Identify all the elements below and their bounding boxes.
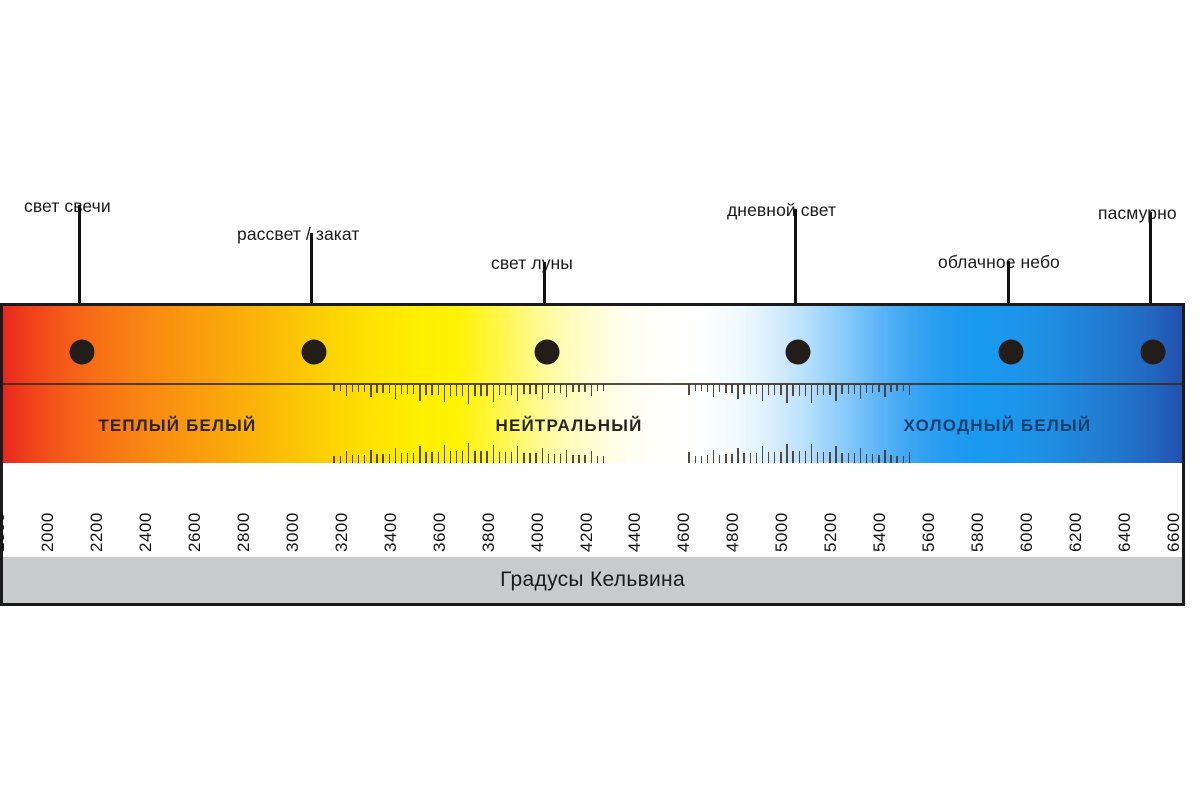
ruler-tick — [909, 452, 910, 463]
zone-caption-3: ХОЛОДНЫЙ БЕЛЫЙ — [904, 416, 1092, 436]
ruler-tick — [860, 384, 861, 399]
ruler-tick — [584, 384, 585, 392]
ruler-tick — [737, 448, 738, 463]
ruler-tick — [474, 384, 475, 396]
kelvin-tick-label: 2800 — [234, 512, 254, 552]
ruler-tick — [737, 384, 738, 399]
ruler-tick — [841, 453, 842, 463]
ruler-tick — [866, 454, 867, 463]
ruler-tick — [535, 453, 536, 463]
ruler-tick — [468, 384, 469, 404]
ruler-tick — [389, 384, 390, 393]
ruler-tick — [358, 455, 359, 463]
ruler-tick — [584, 455, 585, 463]
ruler-tick — [890, 384, 891, 392]
ruler-tick — [701, 384, 702, 391]
kelvin-tick-label: 6200 — [1066, 512, 1086, 552]
ruler-tick — [340, 456, 341, 463]
ruler-tick — [841, 384, 842, 394]
ruler-tick — [511, 384, 512, 395]
ruler-tick — [480, 384, 481, 396]
ruler-tick — [572, 455, 573, 463]
ruler-tick — [591, 384, 592, 396]
marker-dot-2 — [302, 340, 327, 365]
ruler-tick — [352, 455, 353, 463]
chart-frame: ТЕПЛЫЙ БЕЛЫЙНЕЙТРАЛЬНЫЙХОЛОДНЫЙ БЕЛЫЙ 18… — [0, 303, 1185, 606]
ruler-tick — [866, 384, 867, 393]
ruler-tick — [786, 444, 787, 463]
ruler-tick — [829, 452, 830, 463]
kelvin-tick-label: 4600 — [674, 512, 694, 552]
ruler-tick — [695, 384, 696, 391]
ruler-tick — [480, 451, 481, 463]
color-gradient-band: ТЕПЛЫЙ БЕЛЫЙНЕЙТРАЛЬНЫЙХОЛОДНЫЙ БЕЛЫЙ — [3, 306, 1182, 463]
marker-dot-3 — [535, 340, 560, 365]
ruler-tick — [505, 452, 506, 463]
ruler-tick — [425, 384, 426, 395]
ruler-tick — [493, 384, 494, 402]
ruler-tick — [517, 384, 518, 401]
kelvin-tick-label: 3400 — [381, 512, 401, 552]
marker-dot-1 — [70, 340, 95, 365]
ruler-tick — [890, 455, 891, 463]
ruler-tick — [713, 450, 714, 463]
ruler-tick — [572, 384, 573, 392]
ruler-tick — [780, 384, 781, 395]
ruler-tick — [774, 452, 775, 463]
ruler-tick — [499, 452, 500, 463]
ruler-tick — [401, 453, 402, 463]
ruler-tick — [805, 384, 806, 396]
ruler-tick — [896, 384, 897, 391]
ruler-tick — [364, 455, 365, 463]
ruler-tick — [438, 384, 439, 395]
ruler-tick — [450, 451, 451, 463]
ruler-tick — [407, 453, 408, 463]
kelvin-tick-label: 1800 — [0, 512, 9, 552]
ruler-tick — [829, 384, 830, 395]
kelvin-tick-label: 3800 — [479, 512, 499, 552]
ruler-tick — [462, 451, 463, 463]
ruler-tick — [462, 384, 463, 396]
ruler-tick — [719, 384, 720, 392]
ruler-tick — [848, 453, 849, 463]
ruler-tick — [768, 384, 769, 395]
ruler-tick — [413, 453, 414, 463]
ruler-tick — [370, 450, 371, 463]
ruler-tick — [346, 384, 347, 396]
ruler-tick — [566, 384, 567, 397]
ruler-tick — [731, 384, 732, 393]
ruler-tick — [382, 384, 383, 393]
ruler-tick — [725, 384, 726, 393]
callout-label-1: свет свечи — [24, 196, 111, 217]
callout-label-5: облачное небо — [938, 252, 1060, 273]
ruler-tick — [511, 452, 512, 463]
kelvin-tick-label: 2600 — [185, 512, 205, 552]
ruler-tick — [903, 384, 904, 391]
ruler-tick — [419, 446, 420, 463]
ruler-tick — [382, 454, 383, 463]
ruler-tick — [909, 384, 910, 395]
ruler-tick — [364, 384, 365, 392]
ruler-tick — [750, 453, 751, 463]
ruler-tick — [486, 451, 487, 463]
ruler-tick — [774, 384, 775, 395]
ruler-tick — [333, 456, 334, 463]
ruler-tick — [542, 384, 543, 399]
ruler-tick — [762, 446, 763, 463]
callout-label-2: рассвет / закат — [237, 224, 359, 245]
ruler-tick — [743, 453, 744, 463]
ruler-tick — [707, 455, 708, 463]
ruler-tick — [438, 452, 439, 463]
kelvin-tick-label: 6600 — [1164, 512, 1184, 552]
ruler-tick — [523, 453, 524, 463]
ruler-tick — [854, 453, 855, 463]
ruler-tick — [719, 455, 720, 463]
ruler-tick — [603, 456, 604, 463]
kelvin-tick-label: 3000 — [283, 512, 303, 552]
ruler-tick — [413, 384, 414, 394]
kelvin-tick-label: 4000 — [528, 512, 548, 552]
axis-title-label: Градусы Кельвина — [500, 568, 685, 592]
ruler-tick — [817, 452, 818, 463]
zone-caption-2: НЕЙТРАЛЬНЫЙ — [495, 416, 642, 436]
callout-label-6: пасмурно — [1098, 203, 1177, 224]
marker-dot-4 — [786, 340, 811, 365]
color-temperature-chart: свет свечирассвет / закатсвет луныдневно… — [0, 0, 1200, 800]
kelvin-tick-label: 2400 — [136, 512, 156, 552]
ruler-tick — [896, 456, 897, 463]
ruler-tick — [517, 446, 518, 463]
kelvin-tick-label: 6000 — [1017, 512, 1037, 552]
ruler-tick — [762, 384, 763, 401]
ruler-tick — [878, 384, 879, 392]
kelvin-tick-label: 4800 — [723, 512, 743, 552]
ruler-tick — [750, 384, 751, 394]
ruler-tick — [688, 384, 689, 395]
kelvin-tick-label: 5000 — [772, 512, 792, 552]
kelvin-tick-label: 5400 — [870, 512, 890, 552]
ruler-tick — [701, 456, 702, 463]
ruler-tick — [456, 451, 457, 463]
ruler-tick — [854, 384, 855, 394]
ruler-tick — [340, 384, 341, 391]
ruler-tick — [474, 451, 475, 463]
ruler-tick — [523, 384, 524, 394]
ruler-tick — [548, 454, 549, 463]
ruler-tick — [792, 384, 793, 396]
ruler-tick — [431, 384, 432, 395]
kelvin-tick-label: 5800 — [968, 512, 988, 552]
ruler-tick — [597, 456, 598, 463]
ruler-tick — [707, 384, 708, 392]
ruler-tick — [389, 454, 390, 463]
ruler-tick — [603, 384, 604, 391]
ruler-tick — [376, 454, 377, 463]
ruler-tick — [903, 456, 904, 463]
ruler-tick — [713, 384, 714, 397]
band-divider — [3, 383, 1182, 385]
ruler-tick — [505, 384, 506, 395]
ruler-tick — [823, 452, 824, 463]
ruler-tick — [597, 384, 598, 391]
ruler-tick — [486, 384, 487, 396]
ruler-tick — [872, 384, 873, 393]
ruler-tick — [805, 451, 806, 463]
callout-label-3: свет луны — [491, 253, 573, 274]
ruler-tick — [395, 448, 396, 463]
ruler-tick — [542, 448, 543, 463]
ruler-tick — [401, 384, 402, 394]
ruler-tick — [566, 450, 567, 463]
kelvin-tick-label: 4200 — [577, 512, 597, 552]
kelvin-tick-label: 3200 — [332, 512, 352, 552]
ruler-tick — [431, 452, 432, 463]
ruler-tick — [756, 384, 757, 394]
ruler-tick — [425, 452, 426, 463]
ruler-tick — [444, 445, 445, 463]
ruler-tick — [872, 454, 873, 463]
axis-title-bar: Градусы Кельвина — [3, 557, 1182, 603]
ruler-tick — [835, 384, 836, 401]
ruler-tick — [780, 452, 781, 463]
ruler-tick — [756, 453, 757, 463]
ruler-tick — [786, 384, 787, 403]
kelvin-tick-label: 2200 — [87, 512, 107, 552]
ruler-tick — [529, 453, 530, 463]
ruler-tick — [548, 384, 549, 393]
kelvin-tick-label: 5200 — [821, 512, 841, 552]
ruler-tick — [554, 454, 555, 463]
ruler-tick — [688, 452, 689, 463]
ruler-tick — [529, 384, 530, 394]
ruler-tick — [407, 384, 408, 394]
callout-label-4: дневной свет — [727, 200, 836, 221]
ruler-tick — [456, 384, 457, 396]
ruler-tick — [560, 454, 561, 463]
ruler-tick — [731, 454, 732, 463]
ruler-tick — [792, 451, 793, 463]
ruler-tick — [560, 384, 561, 393]
ruler-tick — [823, 384, 824, 395]
ruler-tick — [884, 384, 885, 397]
ruler-tick — [743, 384, 744, 394]
ruler-tick — [799, 384, 800, 396]
zone-caption-1: ТЕПЛЫЙ БЕЛЫЙ — [98, 416, 256, 436]
ruler-tick — [878, 455, 879, 463]
ruler-tick — [578, 384, 579, 392]
ruler-tick — [370, 384, 371, 397]
ruler-tick — [493, 445, 494, 463]
ruler-tick — [799, 451, 800, 463]
kelvin-tick-label: 2000 — [38, 512, 58, 552]
kelvin-tick-label: 6400 — [1115, 512, 1135, 552]
kelvin-tick-label: 4400 — [625, 512, 645, 552]
ruler-tick — [817, 384, 818, 395]
ruler-tick — [695, 456, 696, 463]
ruler-tick — [333, 384, 334, 391]
ruler-tick — [768, 452, 769, 463]
ruler-tick — [352, 384, 353, 392]
ruler-tick — [554, 384, 555, 393]
ruler-tick — [450, 384, 451, 396]
ruler-tick — [535, 384, 536, 394]
ruler-tick — [376, 384, 377, 393]
gradient-fill — [3, 306, 1182, 463]
kelvin-tick-label: 5600 — [919, 512, 939, 552]
ruler-tick — [346, 451, 347, 463]
ruler-tick — [884, 450, 885, 463]
ruler-tick — [468, 443, 469, 463]
ruler-tick — [395, 384, 396, 399]
ruler-tick — [578, 455, 579, 463]
ruler-tick — [591, 451, 592, 463]
ruler-tick — [419, 384, 420, 401]
marker-dot-5 — [999, 340, 1024, 365]
ruler-tick — [811, 444, 812, 463]
ruler-tick — [811, 384, 812, 403]
ruler-tick — [860, 448, 861, 463]
ruler-tick — [444, 384, 445, 402]
ruler-tick — [358, 384, 359, 392]
kelvin-scale-strip: 1800200022002400260028003000320034003600… — [3, 463, 1182, 560]
ruler-tick — [835, 446, 836, 463]
ruler-tick — [499, 384, 500, 395]
ruler-tick — [848, 384, 849, 394]
ruler-tick — [725, 454, 726, 463]
marker-dot-6 — [1141, 340, 1166, 365]
kelvin-tick-label: 3600 — [430, 512, 450, 552]
